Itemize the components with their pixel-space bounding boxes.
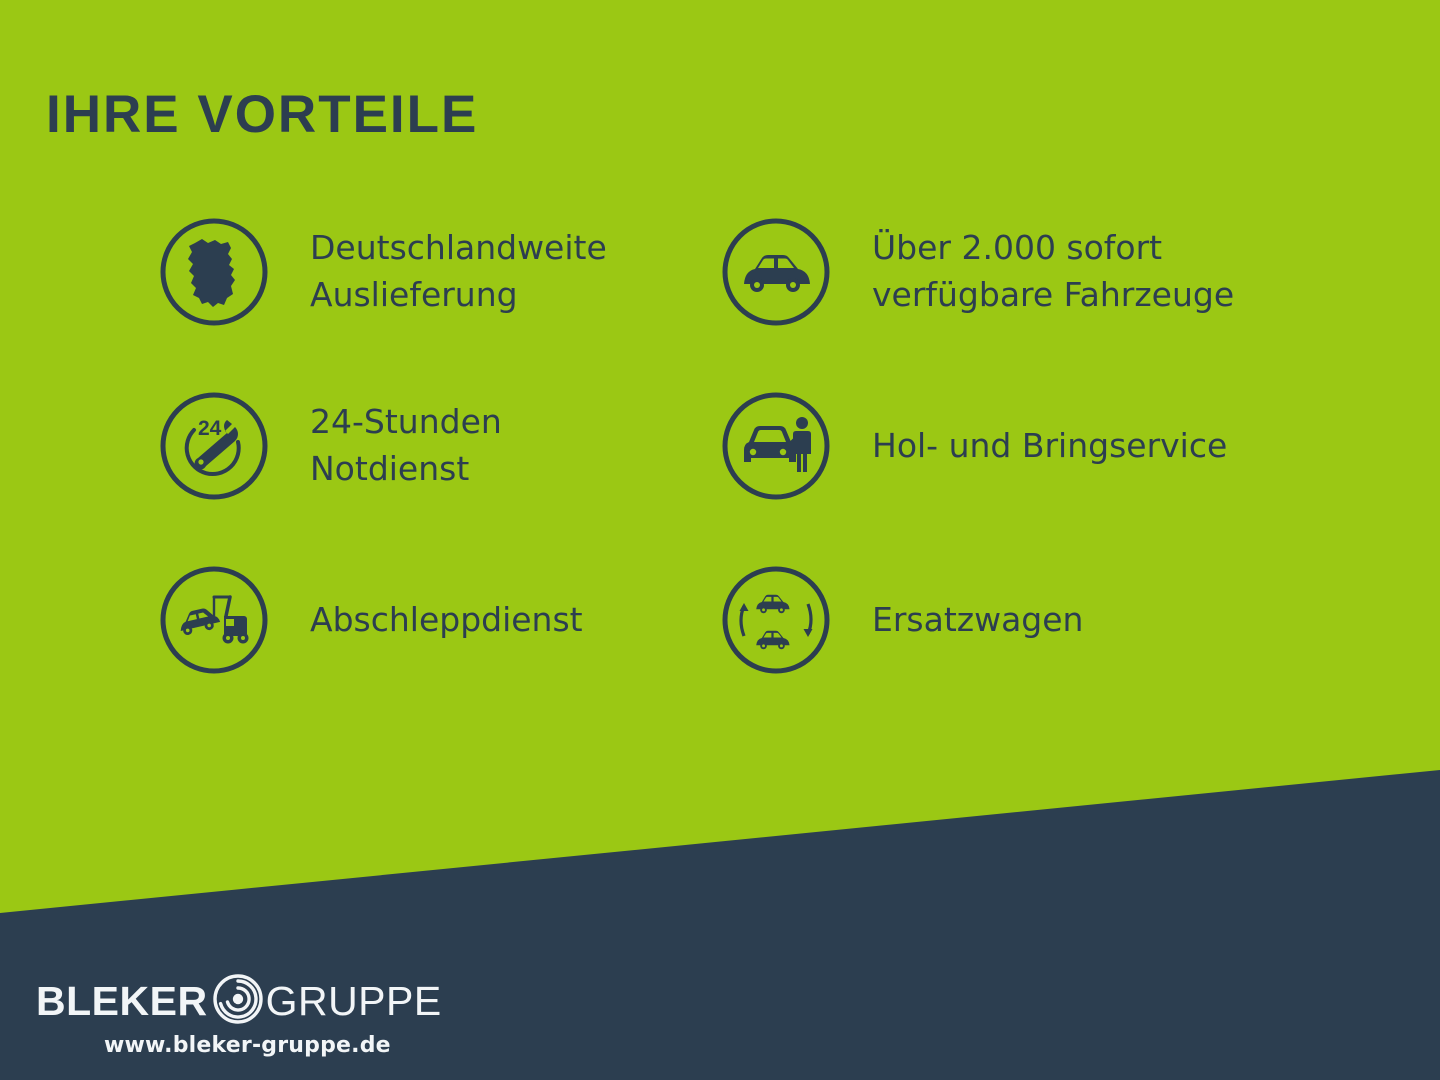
spiral-circle-icon: [212, 973, 264, 1029]
benefit-label: Ersatzwagen: [872, 564, 1342, 676]
page-title: IHRE VORTEILE: [46, 88, 478, 141]
benefit-label: Abschleppdienst: [310, 564, 740, 676]
slide-canvas: IHRE VORTEILE Deutschlandweite Ausliefer…: [0, 0, 1440, 1080]
benefit-label: Deutschlandweite Auslieferung: [310, 216, 740, 328]
benefit-label: Hol- und Bringservice: [872, 390, 1342, 502]
germany-map-icon: [158, 216, 270, 328]
car-side-icon: [720, 216, 832, 328]
24-hour-wrench-icon: 24: [158, 390, 270, 502]
logo-wordmark: BLEKER GRUPPE: [36, 975, 456, 1027]
svg-text:24: 24: [198, 417, 222, 440]
benefit-label: 24-Stunden Notdienst: [310, 390, 740, 502]
logo-name-light: GRUPPE: [266, 981, 442, 1022]
logo-website-url[interactable]: www.bleker-gruppe.de: [36, 1033, 456, 1058]
logo-name-bold: BLEKER: [36, 981, 208, 1022]
two-cars-exchange-icon: [720, 564, 832, 676]
tow-truck-icon: [158, 564, 270, 676]
car-with-person-icon: [720, 390, 832, 502]
benefit-label: Über 2.000 sofort verfügbare Fahrzeuge: [872, 216, 1342, 328]
company-logo[interactable]: BLEKER GRUPPE www.bleker-gruppe.de: [36, 975, 456, 1058]
